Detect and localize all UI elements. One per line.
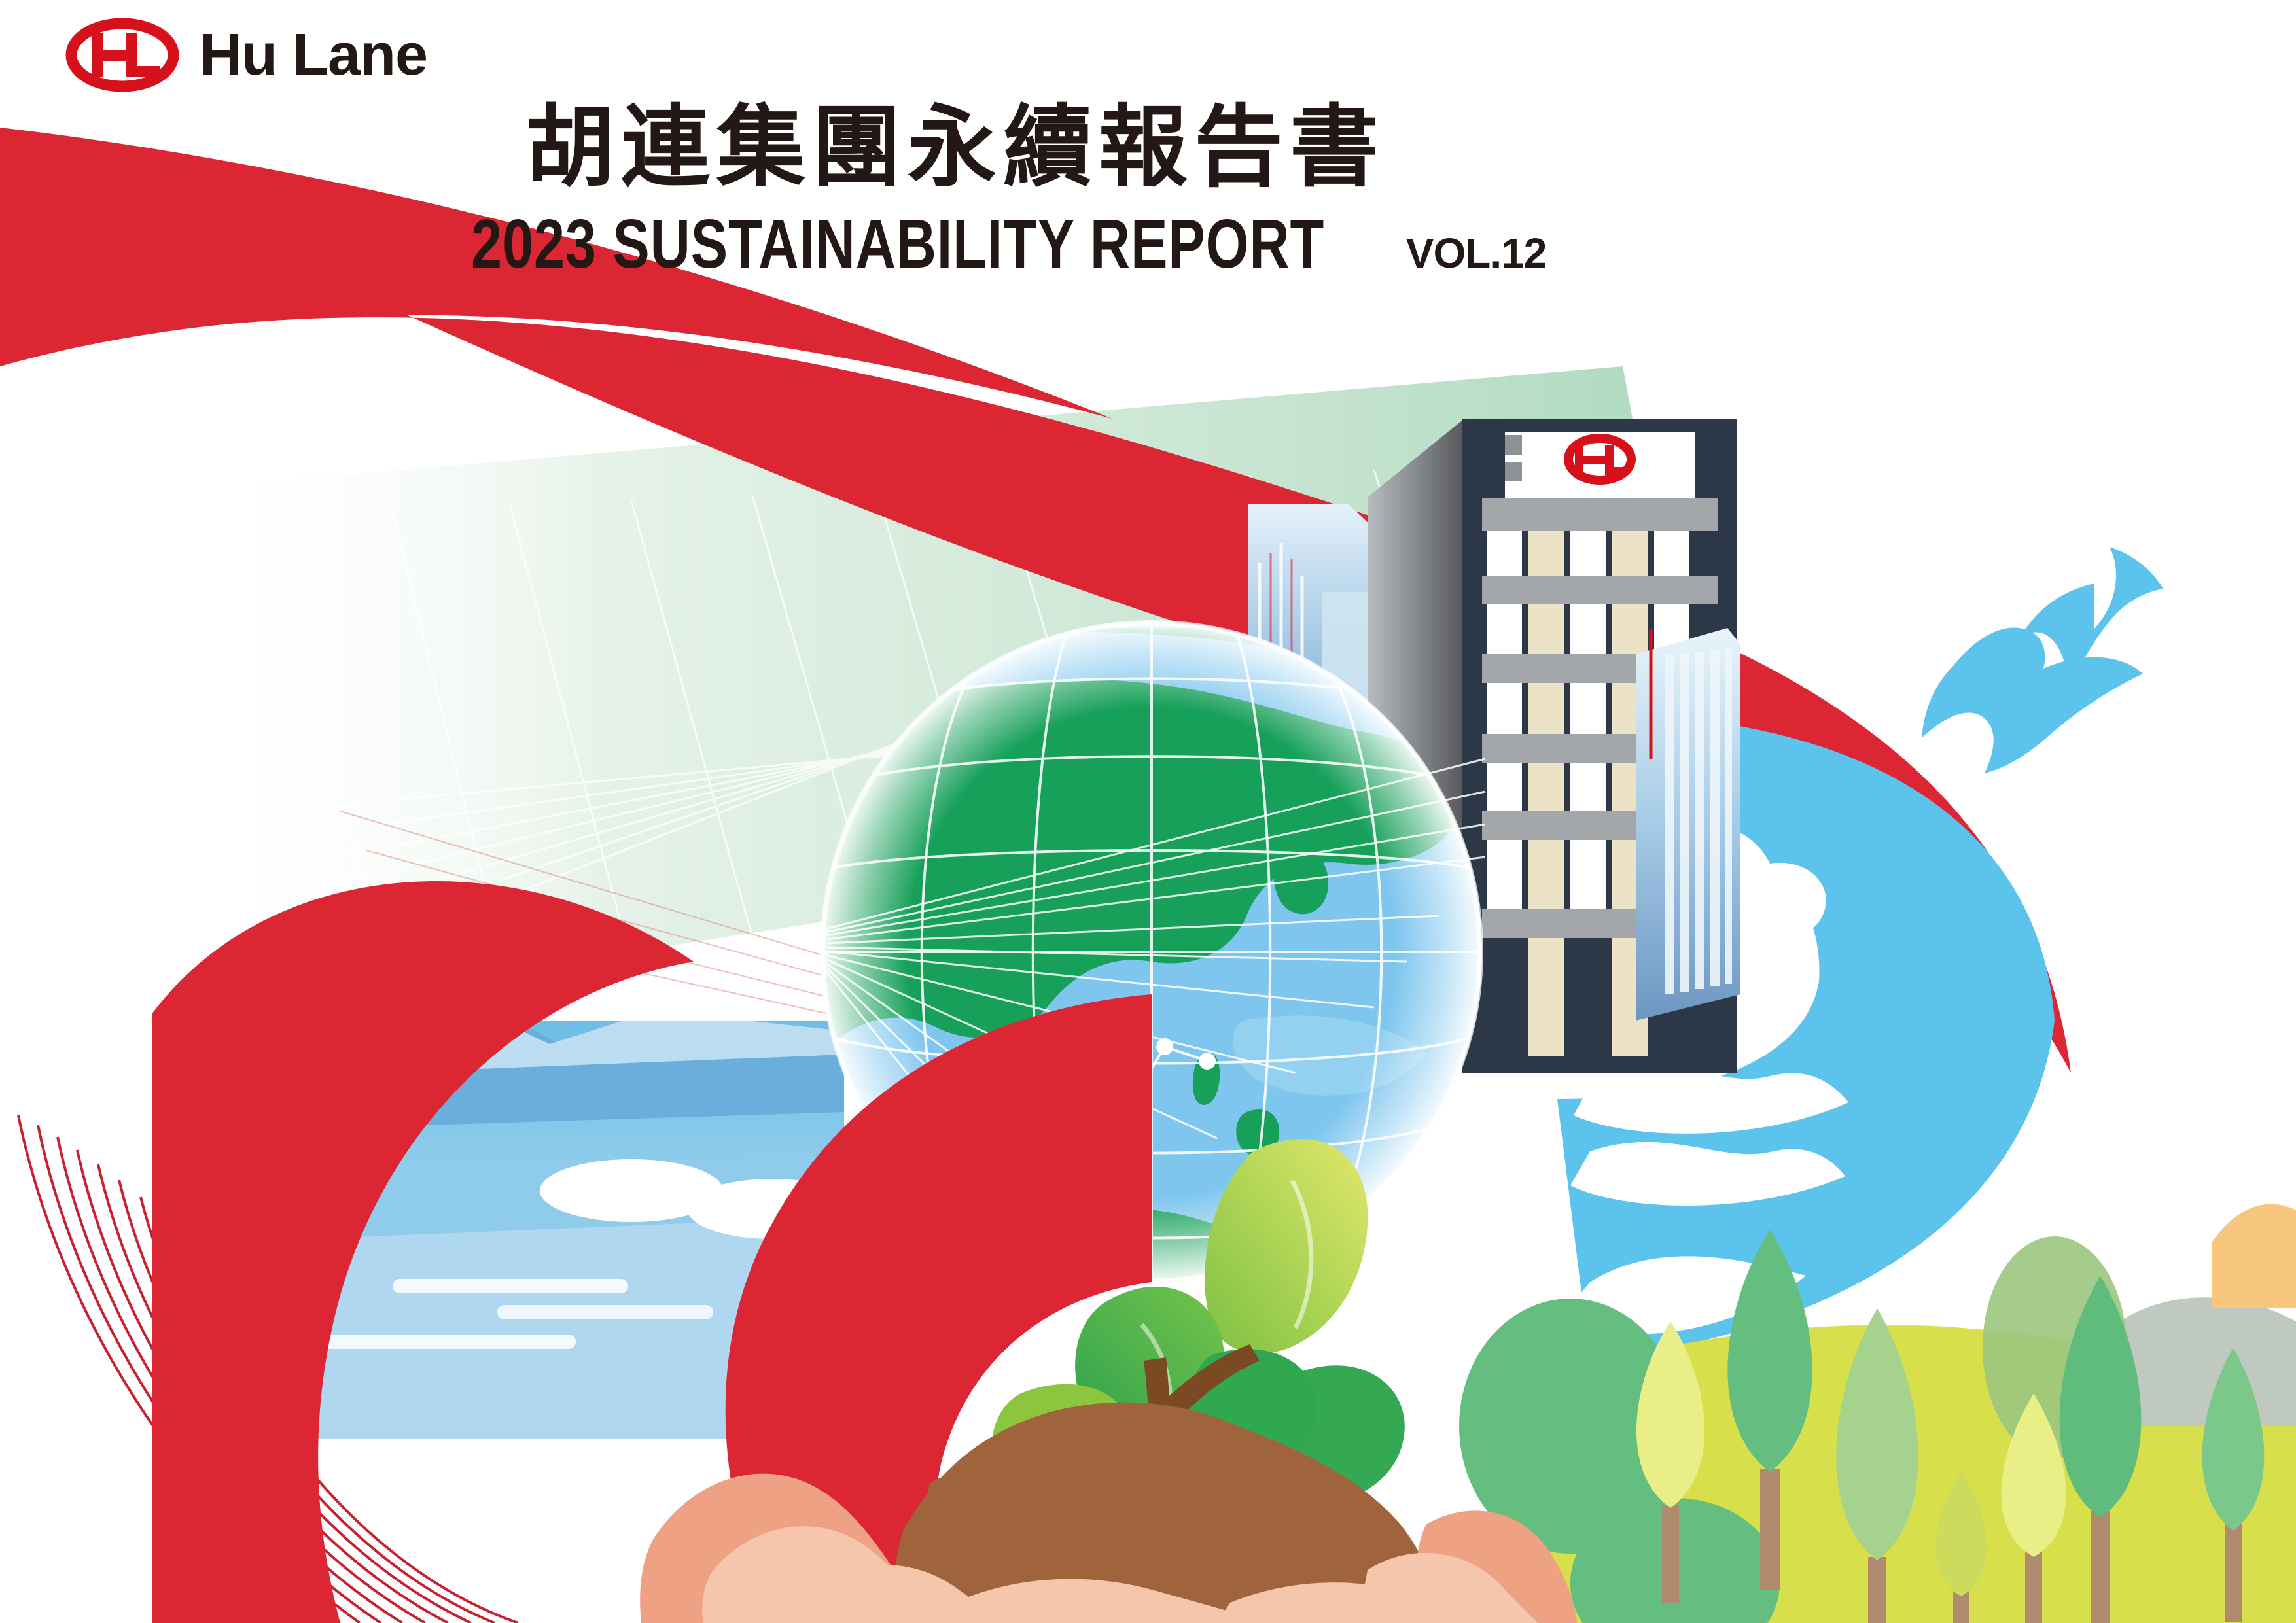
title-block: 胡連集團永續報告書 2023 SUSTAINABILITY REPORT VOL… bbox=[0, 98, 1911, 279]
brand-wordmark: Hu Lane bbox=[200, 26, 427, 84]
report-title-english: 2023 SUSTAINABILITY REPORT bbox=[471, 209, 1324, 279]
report-title-chinese: 胡連集團永續報告書 bbox=[0, 98, 1911, 198]
hu-lane-logo-icon bbox=[65, 18, 180, 92]
volume-label: VOL.12 bbox=[1406, 232, 1547, 274]
subtitle-row: 2023 SUSTAINABILITY REPORT VOL.12 bbox=[0, 209, 1911, 279]
glass-tower-right bbox=[1636, 628, 1740, 1021]
bird-icon bbox=[1922, 627, 2143, 773]
report-cover-page: Hu Lane 胡連集團永續報告書 2023 SUSTAINABILITY RE… bbox=[0, 0, 2296, 1623]
brand-logo: Hu Lane bbox=[65, 18, 427, 92]
birds-group bbox=[1922, 547, 2163, 773]
